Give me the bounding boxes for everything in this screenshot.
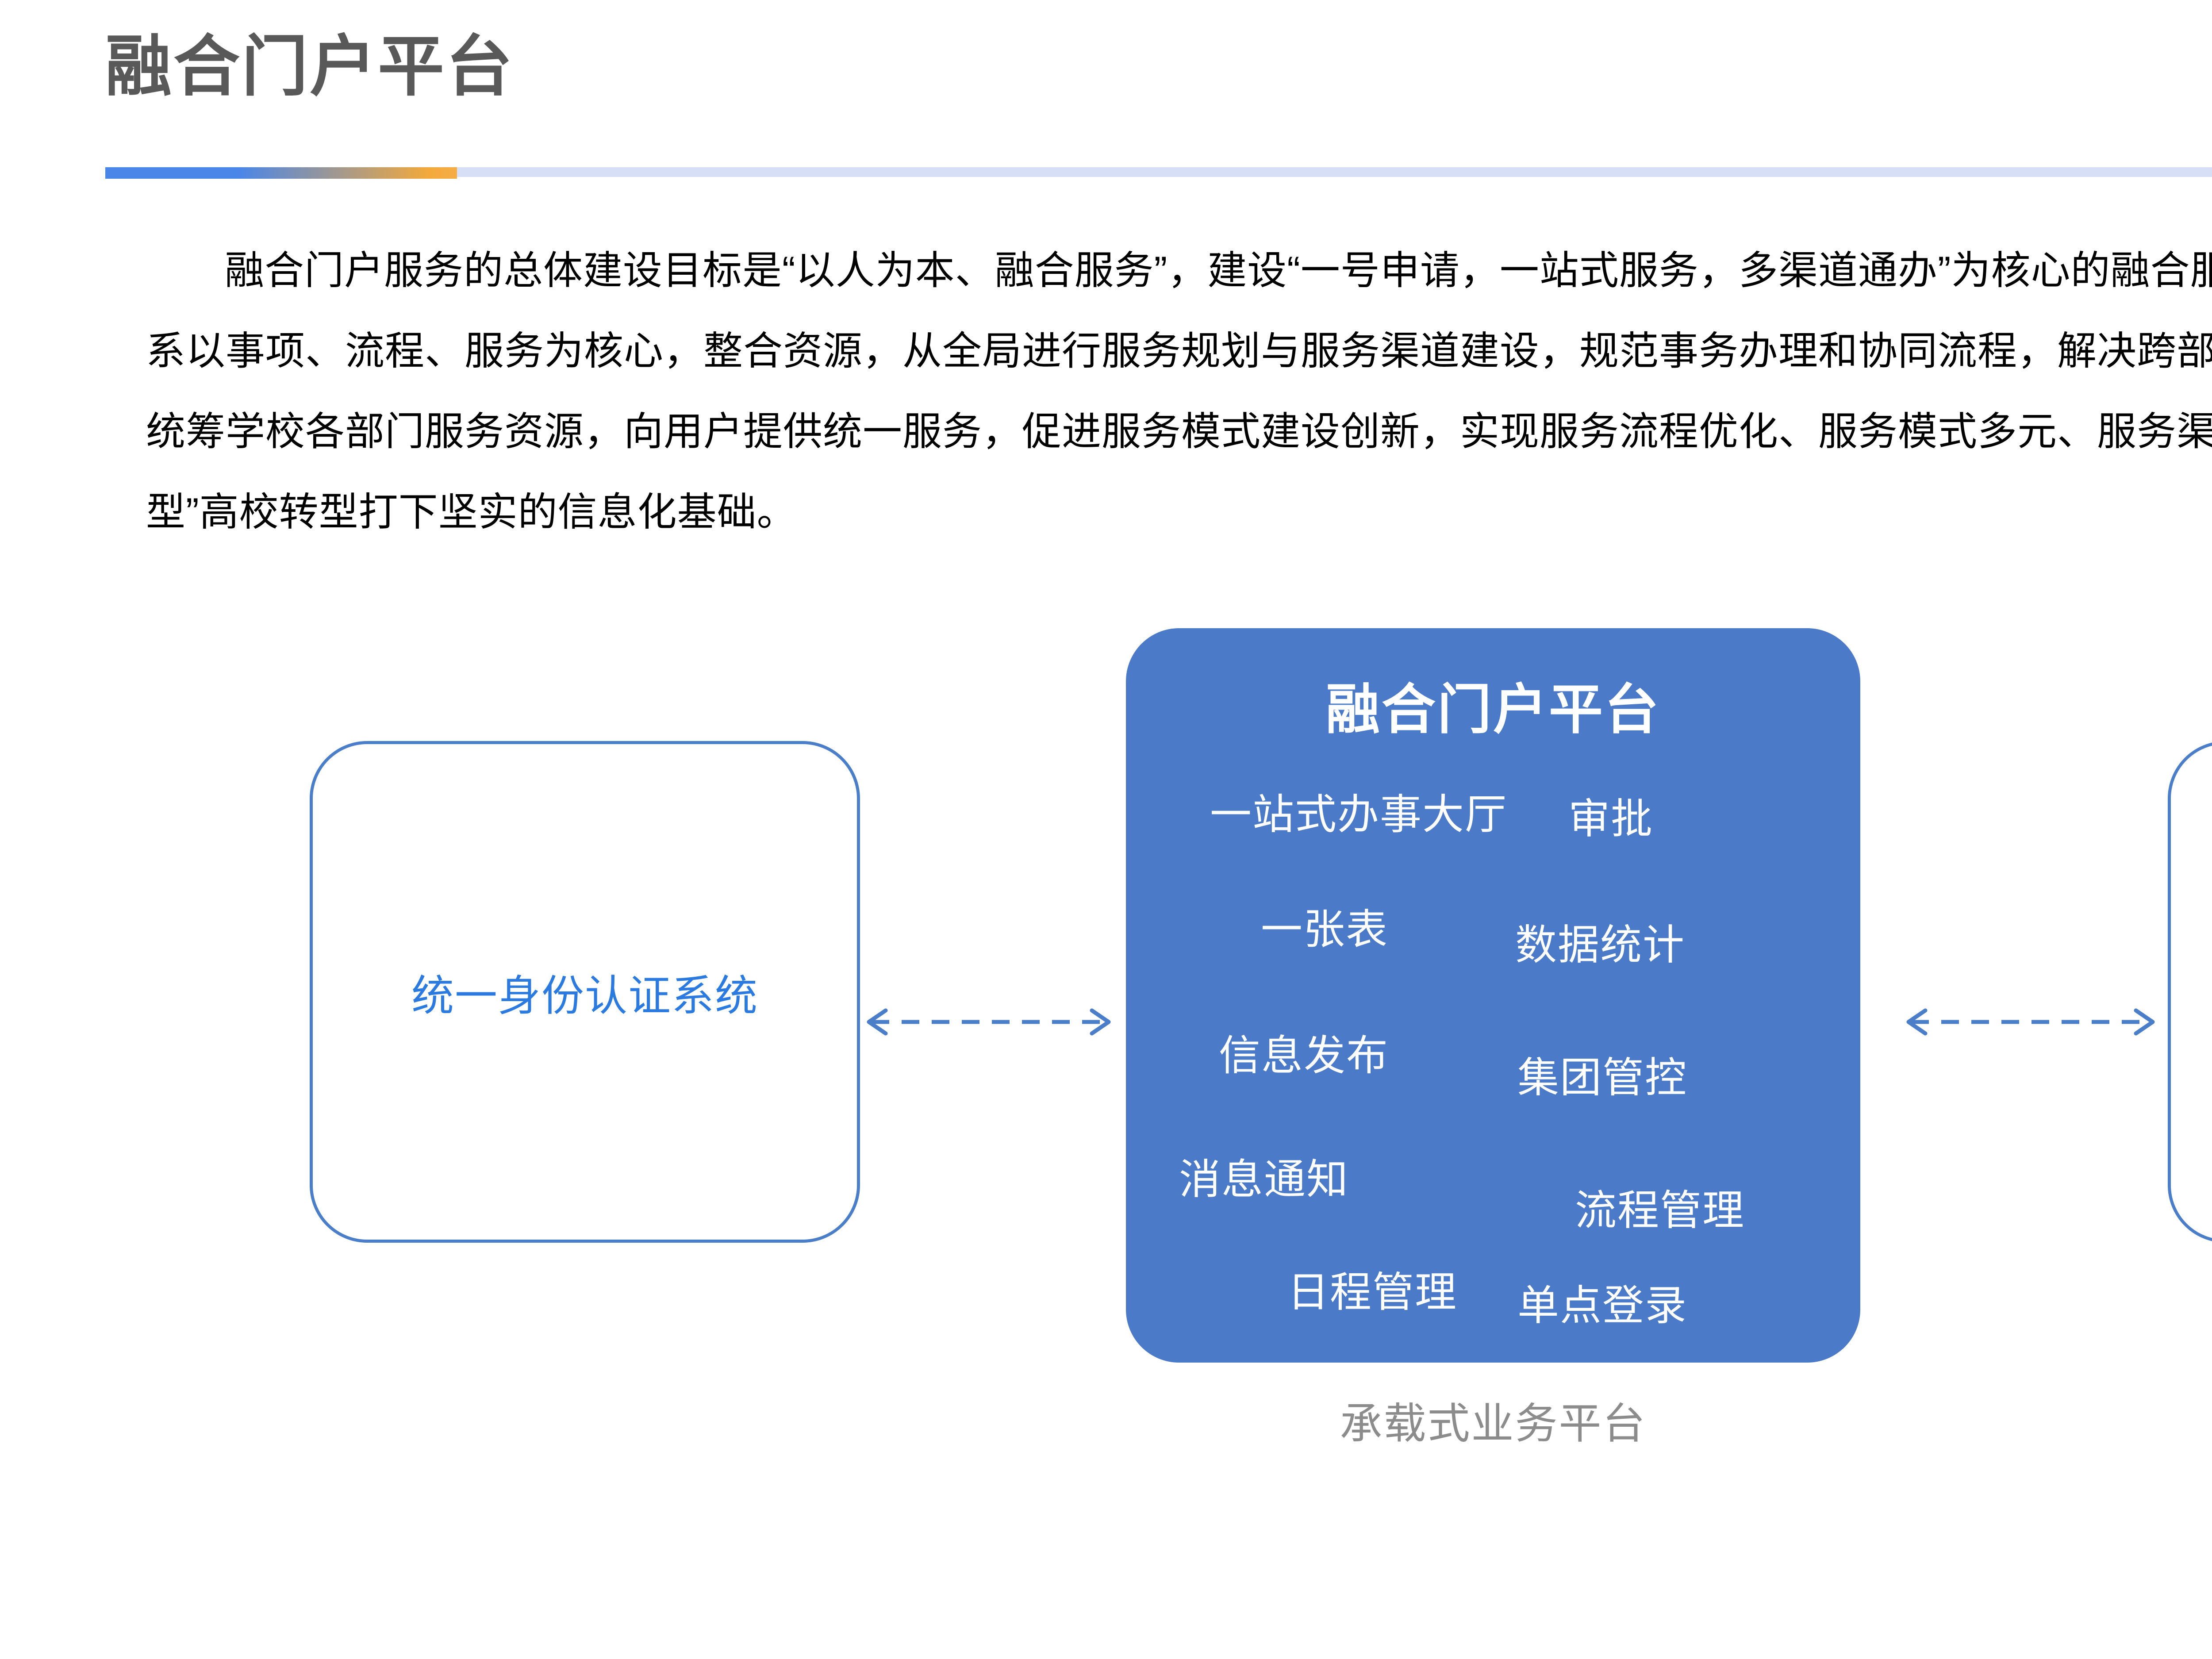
platform-caption: 承载式业务平台: [1126, 1389, 1860, 1451]
architecture-diagram: 统一身份认证系统 融合门户平台 一站式办事大厅 审批 一张表 数据统计 信息发布…: [0, 611, 2212, 1540]
body-paragraph: 融合门户服务的总体建设目标是“以人为本、融合服务”，建设“一号申请，一站式服务，…: [146, 230, 2212, 552]
diagram-node-portal-platform: 融合门户平台 一站式办事大厅 审批 一张表 数据统计 信息发布 集团管控 消息通…: [1126, 628, 1860, 1363]
connector-identity-to-platform: [854, 1004, 1124, 1040]
double-arrow-dashed-icon: [854, 1004, 1124, 1040]
platform-tag-process-mgmt: 流程管理: [1575, 1177, 1745, 1237]
title-underline-accent: [105, 167, 457, 179]
double-arrow-dashed-icon: [1893, 1004, 2168, 1040]
paragraph-line-3: 统筹学校各部门服务资源，向用户提供统一服务，促进服务模式建设创新，实现服务流程优…: [146, 391, 2212, 472]
identity-system-label: 统一身份认证系统: [411, 961, 758, 1023]
slide-header: 融合门户平台 SHUNKANG 瞬康科技 SHUNKANG: [0, 0, 2212, 190]
connector-platform-to-data-hub: [1893, 1004, 2168, 1040]
platform-tag-group-control: 集团管控: [1517, 1044, 1687, 1104]
paragraph-line-1: 融合门户服务的总体建设目标是“以人为本、融合服务”，建设“一号申请，一站式服务，…: [146, 230, 2212, 311]
platform-tag-schedule-mgmt: 日程管理: [1287, 1259, 1457, 1319]
paragraph-line-4: 型”高校转型打下坚实的信息化基础。: [146, 472, 2212, 552]
platform-tag-approval: 审批: [1568, 785, 1653, 845]
diagram-node-identity-system: 统一身份认证系统: [310, 741, 860, 1243]
platform-tag-single-form: 一张表: [1261, 896, 1388, 956]
platform-tag-single-sign-on: 单点登录: [1517, 1272, 1687, 1332]
page-title: 融合门户平台: [105, 30, 514, 103]
platform-tag-one-stop-hall: 一站式办事大厅: [1210, 781, 1507, 841]
paragraph-line-2: 系以事项、流程、服务为核心，整合资源，从全局进行服务规划与服务渠道建设，规范事务…: [146, 311, 2212, 391]
diagram-node-data-hub: 数据中台: [2168, 741, 2212, 1243]
platform-tag-info-publishing: 信息发布: [1219, 1022, 1389, 1082]
platform-title: 融合门户平台: [1126, 666, 1860, 744]
platform-tag-notifications: 消息通知: [1179, 1146, 1349, 1206]
platform-tag-data-statistics: 数据统计: [1515, 911, 1685, 972]
